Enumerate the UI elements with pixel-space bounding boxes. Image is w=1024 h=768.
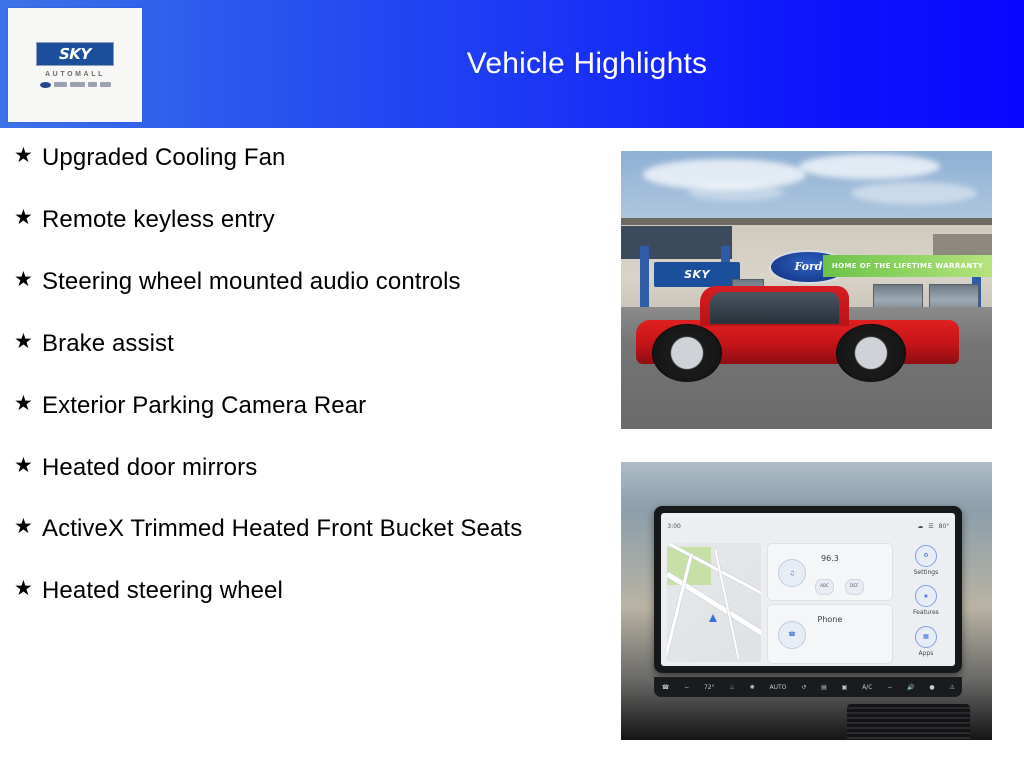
volume-icon[interactable]: 🔊 — [907, 684, 914, 691]
settings-button[interactable]: ⚙ Settings — [901, 545, 951, 576]
red-pickup-truck — [636, 282, 959, 382]
star-icon: ★ — [915, 585, 937, 607]
hazard-icon[interactable]: ⚠ — [949, 684, 954, 691]
power-icon[interactable]: ● — [929, 684, 934, 691]
brand-mark-icon — [88, 82, 97, 87]
auto-label[interactable]: AUTO — [770, 684, 787, 691]
infotainment-bezel: 3:00 ☁ ☰ 80° 96.3 — [654, 506, 962, 673]
radio-preset-1[interactable]: ABC — [815, 579, 834, 595]
apps-label: Apps — [918, 650, 933, 657]
feature-label: Exterior Parking Camera Rear — [42, 390, 366, 422]
truck-windows — [710, 292, 839, 324]
ac-label[interactable]: A/C — [862, 684, 872, 691]
building-roofline — [621, 218, 992, 225]
recirculate-icon[interactable]: ↺ — [801, 684, 806, 691]
feature-label: Heated steering wheel — [42, 575, 283, 607]
phone-hardkey-icon[interactable]: ☎ — [662, 684, 669, 691]
logo-sky-text: SKY — [59, 45, 91, 63]
logo-brand-strip — [40, 81, 111, 88]
outside-temp-label: 80° — [939, 523, 950, 530]
list-item: ★ Remote keyless entry — [0, 204, 606, 236]
dealer-logo: SKY AUTOMALL — [8, 8, 142, 122]
brand-mark-icon — [54, 82, 67, 87]
truck-front-wheel — [652, 324, 722, 382]
brand-mark-icon — [100, 82, 111, 87]
page-header: SKY AUTOMALL Vehicle Highlights — [0, 0, 1024, 128]
list-item: ★ Heated door mirrors — [0, 452, 606, 484]
star-bullet-icon: ★ — [14, 575, 42, 602]
settings-label: Settings — [914, 569, 939, 576]
infotainment-screen[interactable]: 3:00 ☁ ☰ 80° 96.3 — [661, 513, 955, 666]
temp-down-icon[interactable]: − — [684, 684, 689, 691]
brand-mark-icon — [70, 82, 85, 87]
building-canopy-left — [621, 226, 732, 259]
star-bullet-icon: ★ — [14, 452, 42, 479]
feature-label: Heated door mirrors — [42, 452, 257, 484]
list-item: ★ Exterior Parking Camera Rear — [0, 390, 606, 422]
list-item: ★ Heated steering wheel — [0, 575, 606, 607]
cloud-shape — [799, 154, 940, 179]
list-item: ★ Brake assist — [0, 328, 606, 360]
windshield-strip — [621, 462, 992, 498]
climate-control-bar[interactable]: ☎ − 72° ♨ ✺ AUTO ↺ ▤ ▣ A/C − 🔊 ● ⚠ — [654, 677, 962, 696]
screen-side-menu: ⚙ Settings ★ Features ▦ Apps — [901, 543, 951, 662]
feature-label: Brake assist — [42, 328, 174, 360]
dashboard-air-vent — [847, 704, 969, 740]
phone-call-icon[interactable]: ☎ — [778, 621, 806, 649]
map-position-marker — [709, 614, 717, 622]
logo-automall-text: AUTOMALL — [45, 71, 105, 78]
cloud-shape — [851, 182, 977, 204]
feature-label: Steering wheel mounted audio controls — [42, 266, 461, 298]
volume-down-icon[interactable]: − — [887, 684, 892, 691]
clock-label: 3:00 — [667, 523, 680, 530]
page-content: ★ Upgraded Cooling Fan ★ Remote keyless … — [0, 128, 1024, 768]
truck-rear-wheel — [836, 324, 906, 382]
navigation-map-card[interactable] — [667, 543, 761, 662]
gear-icon: ⚙ — [915, 545, 937, 567]
list-item: ★ Steering wheel mounted audio controls — [0, 266, 606, 298]
star-bullet-icon: ★ — [14, 204, 42, 231]
logo-sky-banner: SKY — [36, 42, 114, 66]
phone-card[interactable]: Phone ☎ — [767, 604, 892, 664]
list-item: ★ ActiveX Trimmed Heated Front Bucket Se… — [0, 513, 606, 545]
features-button[interactable]: ★ Features — [901, 585, 951, 616]
features-label: Features — [913, 609, 939, 616]
media-card[interactable]: 96.3 ♫ ABC DEF — [767, 543, 892, 602]
grid-icon: ▦ — [915, 626, 937, 648]
star-bullet-icon: ★ — [14, 142, 42, 169]
ford-oval-icon — [40, 82, 51, 88]
star-bullet-icon: ★ — [14, 390, 42, 417]
star-bullet-icon: ★ — [14, 266, 42, 293]
cloud-shape — [688, 184, 784, 201]
driver-temp-label: 72° — [704, 684, 715, 691]
apps-button[interactable]: ▦ Apps — [901, 626, 951, 657]
defrost-front-icon[interactable]: ▣ — [842, 684, 848, 691]
screen-status-bar: 3:00 ☁ ☰ 80° — [661, 513, 955, 539]
star-bullet-icon: ★ — [14, 328, 42, 355]
fan-icon[interactable]: ✺ — [750, 684, 755, 691]
list-item: ★ Upgraded Cooling Fan — [0, 142, 606, 174]
radio-preset-2[interactable]: DEF — [845, 579, 864, 595]
radio-tune-icon[interactable]: ♫ — [778, 559, 806, 587]
vehicle-interior-photo: 3:00 ☁ ☰ 80° 96.3 — [621, 462, 992, 740]
bluetooth-icon: ☁ — [917, 523, 923, 530]
feature-label: ActiveX Trimmed Heated Front Bucket Seat… — [42, 513, 522, 545]
feature-label: Upgraded Cooling Fan — [42, 142, 286, 174]
page-title: Vehicle Highlights — [150, 0, 1024, 128]
warranty-banner: HOME OF THE LIFETIME WARRANTY — [823, 255, 992, 277]
seat-heater-icon[interactable]: ♨ — [729, 684, 734, 691]
signal-icon: ☰ — [928, 523, 933, 530]
feature-label: Remote keyless entry — [42, 204, 275, 236]
vehicle-exterior-photo: SKY Ford HOME OF THE LIFETIME WARRANTY — [621, 151, 992, 429]
star-bullet-icon: ★ — [14, 513, 42, 540]
defrost-rear-icon[interactable]: ▤ — [821, 684, 827, 691]
vehicle-highlights-list: ★ Upgraded Cooling Fan ★ Remote keyless … — [0, 142, 606, 607]
